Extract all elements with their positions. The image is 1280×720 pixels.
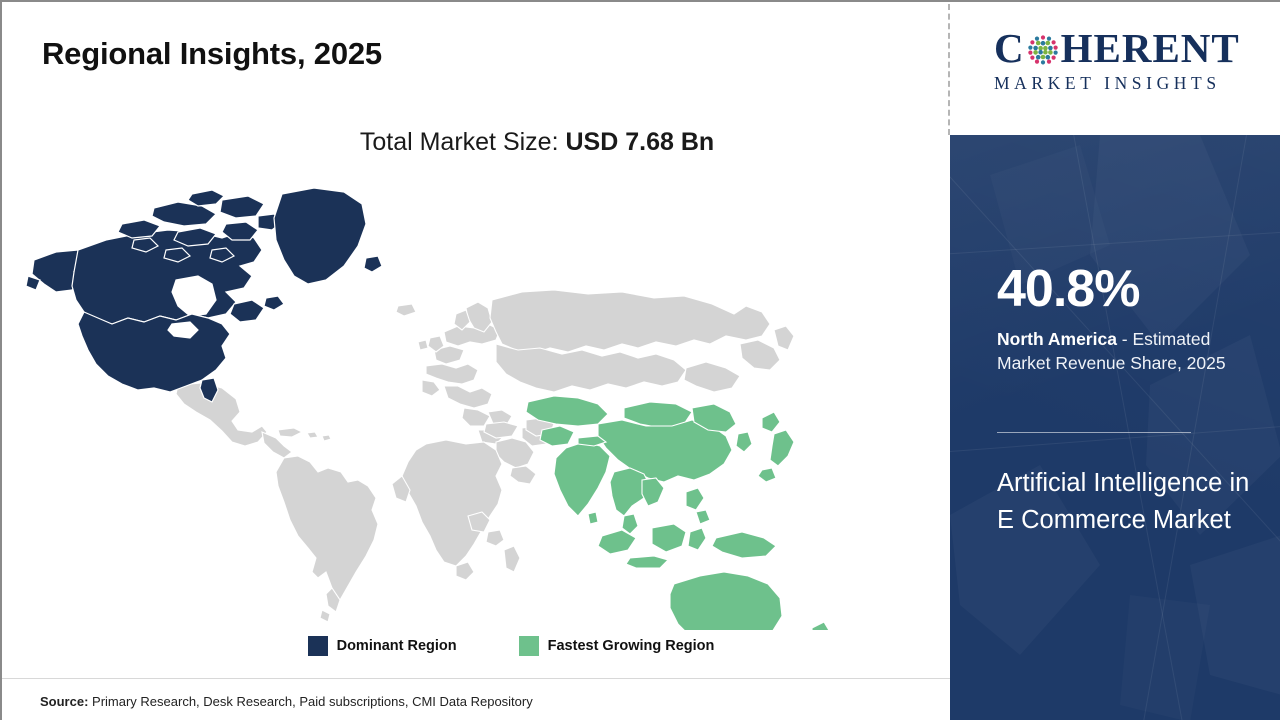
world-map <box>26 180 856 630</box>
page-title: Regional Insights, 2025 <box>42 36 382 72</box>
legend-swatch-icon <box>308 636 328 656</box>
legend-item-fastest-growing: Fastest Growing Region <box>519 636 715 656</box>
stat-region-name: North America <box>997 329 1117 349</box>
legend-swatch-icon <box>519 636 539 656</box>
source-divider <box>2 678 950 679</box>
source-text: Primary Research, Desk Research, Paid su… <box>88 694 532 709</box>
total-market-size-value: USD 7.68 Bn <box>565 128 714 156</box>
logo-area: C <box>950 2 1280 135</box>
brand-logo: C <box>994 28 1260 94</box>
stat-caption: North America - Estimated Market Revenue… <box>997 327 1265 375</box>
logo-letters-herent: HERENT <box>1061 28 1240 69</box>
right-sidebar: C <box>950 2 1280 720</box>
legend-item-dominant: Dominant Region <box>308 636 457 656</box>
decorative-background-art <box>950 135 1280 720</box>
stat-value: 40.8% <box>997 263 1265 315</box>
map-region-asia-pacific <box>526 396 836 630</box>
market-name: Artificial Intelligence in E Commerce Ma… <box>997 465 1259 539</box>
logo-wordmark: C <box>994 28 1260 69</box>
map-region-north-america <box>26 188 382 402</box>
infographic-frame: Regional Insights, 2025 Total Market Siz… <box>0 0 1280 720</box>
left-content-panel: Regional Insights, 2025 Total Market Siz… <box>2 2 950 720</box>
panel-dashed-divider <box>948 4 950 135</box>
logo-tagline: MARKET INSIGHTS <box>994 73 1260 94</box>
map-legend: Dominant Region Fastest Growing Region <box>2 636 950 656</box>
source-label: Source: <box>40 694 88 709</box>
world-map-svg <box>26 180 856 630</box>
legend-label-dominant: Dominant Region <box>337 638 457 654</box>
dotted-sphere-icon <box>1026 33 1060 67</box>
total-market-size-label: Total Market Size: <box>360 128 566 156</box>
logo-letter-c: C <box>994 28 1025 69</box>
legend-label-fastest-growing: Fastest Growing Region <box>548 638 715 654</box>
stats-panel: 40.8% North America - Estimated Market R… <box>950 135 1280 720</box>
source-note: Source: Primary Research, Desk Research,… <box>40 694 533 709</box>
stat-block: 40.8% North America - Estimated Market R… <box>997 263 1265 375</box>
stat-divider <box>997 432 1191 433</box>
total-market-size: Total Market Size: USD 7.68 Bn <box>2 128 950 157</box>
